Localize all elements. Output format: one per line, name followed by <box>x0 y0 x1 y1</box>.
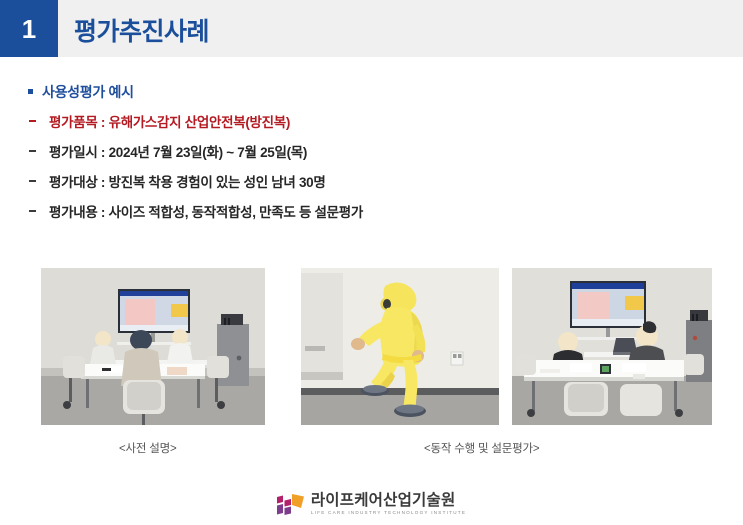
photo-survey-evaluation <box>512 268 712 425</box>
logo-text: 라이프케어산업기술원 LIFE CARE INDUSTRY TECHNOLOGY… <box>311 493 466 516</box>
slide-number: 1 <box>22 16 36 42</box>
page-title: 평가추진사례 <box>74 12 209 48</box>
bullet-item-2: 평가일시 : 2024년 7월 23일(화) ~ 7월 25일(목) <box>0 136 743 166</box>
bullet-item-1-label: 평가품목 : 유해가스감지 산업안전복(방진복) <box>30 111 290 131</box>
bullet-level1-label: 사용성평가 예시 <box>28 82 134 102</box>
bullet-item-3-label: 평가대상 : 방진복 착용 경험이 있는 성인 남녀 30명 <box>30 171 326 191</box>
bullet-item-1: 평가품목 : 유해가스감지 산업안전복(방진복) <box>0 106 743 136</box>
bullet-item-2-label: 평가일시 : 2024년 7월 23일(화) ~ 7월 25일(목) <box>30 141 307 161</box>
photo-pre-briefing <box>41 268 265 425</box>
slide-footer: 라이프케어산업기술원 LIFE CARE INDUSTRY TECHNOLOGY… <box>0 484 743 525</box>
slide-header-band: 1 평가추진사례 <box>0 0 743 57</box>
bullet-item-4: 평가내용 : 사이즈 적합성, 동작적합성, 만족도 등 설문평가 <box>0 196 743 226</box>
bullet-level1: 사용성평가 예시 <box>0 78 743 106</box>
bullet-item-4-label: 평가내용 : 사이즈 적합성, 동작적합성, 만족도 등 설문평가 <box>30 201 363 221</box>
slide-body: 사용성평가 예시 평가품목 : 유해가스감지 산업안전복(방진복) 평가일시 :… <box>0 78 743 226</box>
dash-bullet-icon <box>29 210 36 212</box>
photo-caption-left: <사전 설명> <box>119 440 177 456</box>
photo-pre-briefing-graphic <box>41 268 265 425</box>
photo-movement-test <box>301 268 499 425</box>
bullet-item-3: 평가대상 : 방진복 착용 경험이 있는 성인 남녀 30명 <box>0 166 743 196</box>
organization-logo: 라이프케어산업기술원 LIFE CARE INDUSTRY TECHNOLOGY… <box>277 493 466 516</box>
slide-number-badge: 1 <box>0 0 58 57</box>
dash-bullet-icon <box>29 150 36 152</box>
logo-mark-icon <box>277 494 304 515</box>
logo-name: 라이프케어산업기술원 <box>311 493 466 509</box>
square-bullet-icon <box>28 89 33 94</box>
dash-bullet-icon <box>29 120 36 122</box>
logo-subtitle: LIFE CARE INDUSTRY TECHNOLOGY INSTITUTE <box>311 511 466 516</box>
photo-survey-evaluation-graphic <box>512 268 712 425</box>
photo-caption-right: <동작 수행 및 설문평가> <box>424 440 539 456</box>
photo-movement-test-graphic <box>301 268 499 425</box>
dash-bullet-icon <box>29 180 36 182</box>
